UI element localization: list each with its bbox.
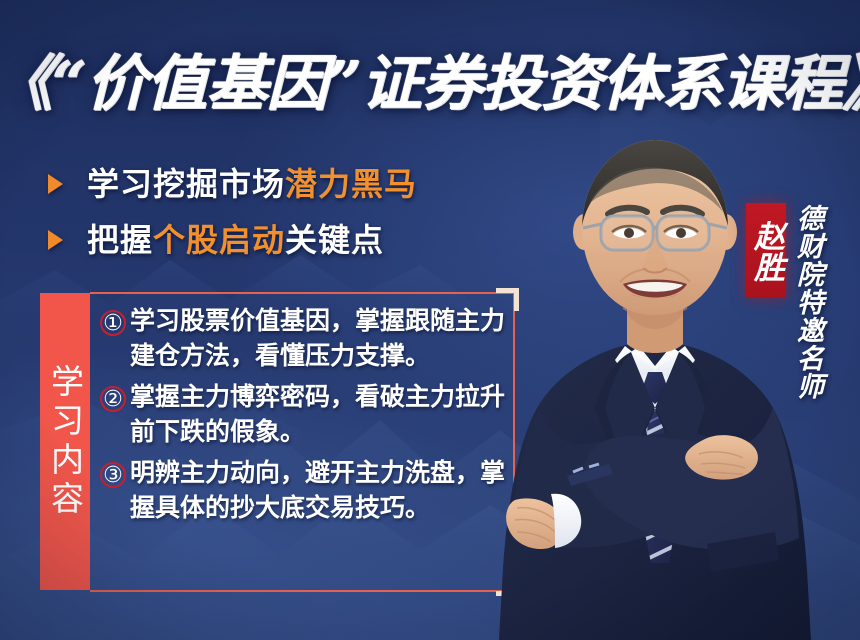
highlight-accent-2: 个股启动 bbox=[153, 222, 285, 258]
list-item: ③ 明辨主力动向，避开主力洗盘，掌握具体的抄大底交易技巧。 bbox=[98, 456, 508, 526]
item-text-3: 明辨主力动向，避开主力洗盘，掌握具体的抄大底交易技巧。 bbox=[130, 456, 508, 526]
curriculum-list: ① 学习股票价值基因，掌握跟随主力建仓方法，看懂压力支撑。 ② 掌握主力博弈密码… bbox=[98, 298, 508, 588]
item-number-2: ② bbox=[103, 386, 123, 411]
poster-canvas: 《“价值基因”证券投资体系课程》 学习挖掘市场潜力黑马 把握个股启动关键点 学习… bbox=[0, 0, 860, 640]
panel-bottom-rule bbox=[90, 590, 515, 592]
speaker-name: 赵胜 bbox=[745, 220, 787, 282]
speaker-name-seal: 赵胜 bbox=[746, 203, 786, 298]
panel-top-rule bbox=[90, 292, 515, 294]
highlight-lead-1: 学习挖掘市场 bbox=[87, 166, 285, 202]
item-number-badge-1: ① bbox=[98, 308, 128, 338]
item-number-1: ① bbox=[103, 310, 123, 335]
curriculum-panel: 学习内容 ① 学习股票价值基因，掌握跟随主力建仓方法，看懂压力支撑。 ② 掌握主… bbox=[40, 292, 515, 592]
triangle-bullet-icon bbox=[48, 230, 63, 250]
list-item: ① 学习股票价值基因，掌握跟随主力建仓方法，看懂压力支撑。 bbox=[98, 304, 508, 374]
highlight-text-2: 把握个股启动关键点 bbox=[87, 222, 384, 258]
section-label-text: 学习内容 bbox=[41, 364, 90, 520]
highlight-item-2: 把握个股启动关键点 bbox=[48, 216, 518, 264]
item-text-2: 掌握主力博弈密码，看破主力拉升前下跌的假象。 bbox=[130, 380, 508, 450]
item-number-badge-2: ② bbox=[98, 384, 128, 414]
speaker-credential: 德财院特邀名师 bbox=[793, 204, 837, 404]
highlight-item-1: 学习挖掘市场潜力黑马 bbox=[48, 160, 518, 208]
item-number-3: ③ bbox=[103, 462, 123, 487]
highlight-text-1: 学习挖掘市场潜力黑马 bbox=[87, 166, 417, 202]
speaker-credential-text: 德财院特邀名师 bbox=[793, 204, 821, 400]
highlight-list: 学习挖掘市场潜力黑马 把握个股启动关键点 bbox=[48, 160, 518, 272]
highlight-accent-1: 潜力黑马 bbox=[285, 166, 417, 202]
triangle-bullet-icon bbox=[48, 174, 63, 194]
list-item: ② 掌握主力博弈密码，看破主力拉升前下跌的假象。 bbox=[98, 380, 508, 450]
section-label-bar: 学习内容 bbox=[40, 293, 90, 590]
item-text-1: 学习股票价值基因，掌握跟随主力建仓方法，看懂压力支撑。 bbox=[130, 304, 508, 374]
item-number-badge-3: ③ bbox=[98, 460, 128, 490]
highlight-tail-2: 关键点 bbox=[285, 222, 384, 258]
highlight-lead-2: 把握 bbox=[87, 222, 153, 258]
